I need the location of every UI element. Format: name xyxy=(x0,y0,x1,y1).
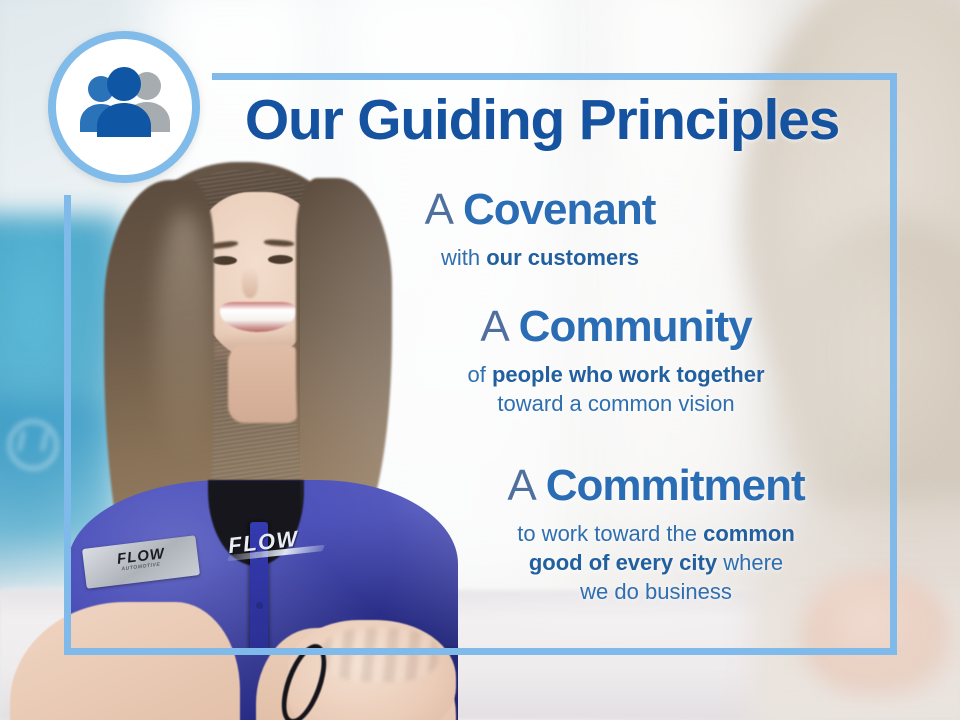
principle-community-heading: A Community xyxy=(366,303,866,351)
blurred-vw-logo xyxy=(8,420,58,470)
detail-text: to work toward the xyxy=(517,521,703,546)
associate-button-bottom xyxy=(256,602,263,609)
principle-covenant: A Covenant with our customers xyxy=(300,186,780,272)
page-title: Our Guiding Principles xyxy=(212,92,872,149)
frame-border-top xyxy=(212,73,897,80)
principle-covenant-heading: A Covenant xyxy=(300,186,780,234)
detail-emphasis: people who work together xyxy=(492,362,765,387)
principle-community-detail: of people who work togethertoward a comm… xyxy=(366,360,866,418)
associate-eye-right xyxy=(268,255,293,264)
principle-keyword: Community xyxy=(519,302,752,351)
guiding-principles-banner: FLOW AUTOMOTIVE FLOW Our G xyxy=(0,0,960,720)
principle-covenant-detail: with our customers xyxy=(300,243,780,272)
detail-text: with xyxy=(441,245,486,270)
principle-keyword: Covenant xyxy=(463,185,655,234)
principle-commitment-detail: to work toward the commongood of every c… xyxy=(416,519,896,606)
principle-community: A Community of people who work togethert… xyxy=(366,303,866,418)
associate-neck xyxy=(228,345,302,423)
associate-nose xyxy=(242,268,258,298)
principle-keyword: Commitment xyxy=(546,461,805,510)
associate-hair-highlight xyxy=(156,210,212,470)
detail-emphasis: good of every city xyxy=(529,550,717,575)
people-group-icon xyxy=(48,31,200,183)
detail-emphasis: our customers xyxy=(486,245,639,270)
detail-text: of xyxy=(467,362,491,387)
detail-emphasis: common xyxy=(703,521,795,546)
associate-eye-left xyxy=(212,256,237,265)
principle-commitment-heading: A Commitment xyxy=(416,462,896,510)
detail-text: toward a common vision xyxy=(497,391,734,416)
principle-commitment: A Commitment to work toward the commongo… xyxy=(416,462,896,606)
frame-border-bottom xyxy=(64,648,897,655)
detail-text: where xyxy=(717,550,783,575)
associate-knuckles xyxy=(322,628,438,682)
frame-border-left xyxy=(64,195,71,655)
detail-text: we do business xyxy=(580,579,732,604)
